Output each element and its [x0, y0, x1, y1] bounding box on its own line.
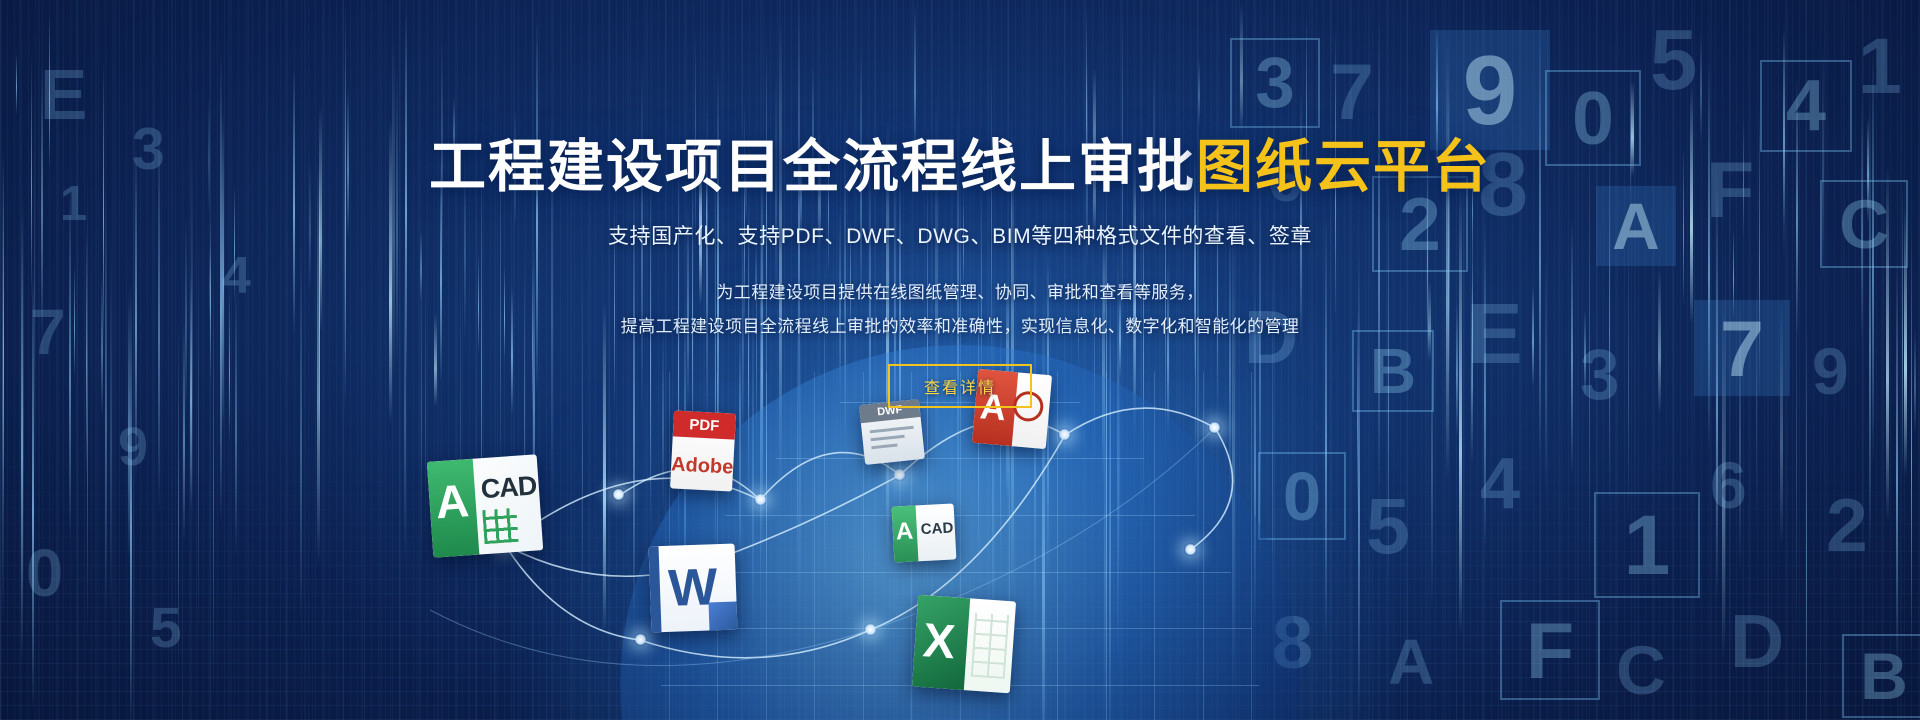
page-title: 工程建设项目全流程线上审批图纸云平台 [0, 136, 1920, 200]
network-node [754, 493, 767, 506]
network-node [864, 623, 877, 636]
cad-dwg-icon: A CAD [427, 454, 543, 557]
excel-icon: X [912, 595, 1016, 694]
network-globe-graphic: A CAD PDF Adobe DWF A [0, 380, 1920, 720]
network-node [612, 488, 625, 501]
view-details-button[interactable]: 查看详情 [888, 364, 1032, 408]
dwf-icon: DWF [859, 399, 925, 465]
banner-description: 为工程建设项目提供在线图纸管理、协同、审批和查看等服务， 提高工程建设项目全流程… [0, 276, 1920, 344]
cta-container: 查看详情 [0, 364, 1920, 408]
hero-banner: 3790541628AFCDBE3790541628AFCDBE3790541 [0, 0, 1920, 720]
network-node [1058, 428, 1071, 441]
network-node [893, 468, 906, 481]
word-icon: W [649, 544, 738, 633]
cad-small-icon: A CAD [892, 503, 957, 562]
network-node [634, 633, 647, 646]
network-node [1184, 543, 1197, 556]
pdf-icon: PDF Adobe [670, 410, 736, 491]
network-node [1208, 421, 1221, 434]
headline-white-part: 工程建设项目全流程线上审批 [429, 135, 1196, 199]
banner-content: 工程建设项目全流程线上审批图纸云平台 支持国产化、支持PDF、DWF、DWG、B… [0, 0, 1920, 408]
description-line-1: 为工程建设项目提供在线图纸管理、协同、审批和查看等服务， [0, 276, 1920, 310]
headline-gold-part: 图纸云平台 [1196, 135, 1491, 199]
banner-subtitle: 支持国产化、支持PDF、DWF、DWG、BIM等四种格式文件的查看、签章 [0, 220, 1920, 250]
description-line-2: 提高工程建设项目全流程线上审批的效率和准确性，实现信息化、数字化和智能化的管理 [0, 310, 1920, 344]
